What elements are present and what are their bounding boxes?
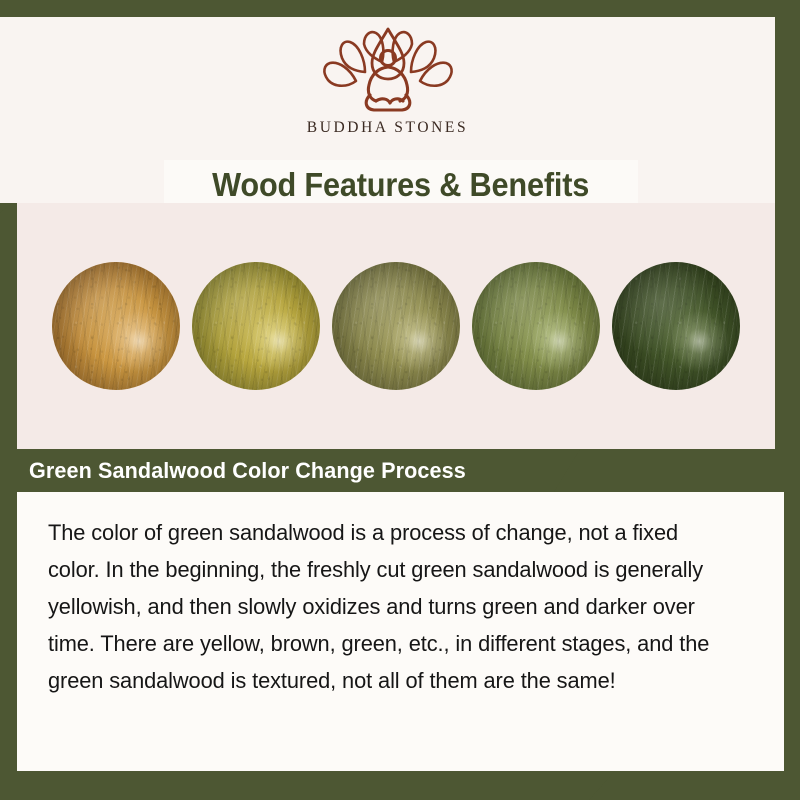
bead-stage-1-yellowish	[52, 262, 180, 390]
description-paragraph: The color of green sandalwood is a proce…	[48, 514, 735, 699]
sphere-shading-highlight	[612, 262, 740, 390]
left-frame-strip	[0, 199, 17, 800]
description-card: The color of green sandalwood is a proce…	[17, 492, 784, 771]
bead-stage-2-yellow-green	[192, 262, 320, 390]
sphere-shading-highlight	[192, 262, 320, 390]
page-title: Wood Features & Benefits	[213, 166, 590, 204]
bead-stage-3-olive	[332, 262, 460, 390]
header-card: BUDDHA STONES Wood Features & Benefits	[0, 17, 775, 203]
page-title-plate: Wood Features & Benefits	[164, 160, 638, 209]
lotus-meditation-figure-icon	[308, 25, 468, 115]
section-banner: Green Sandalwood Color Change Process	[0, 449, 580, 492]
brand-wordmark: BUDDHA STONES	[0, 119, 775, 137]
bead-row	[17, 203, 775, 449]
top-frame-bar	[0, 0, 800, 17]
bottom-frame-bar	[0, 771, 615, 800]
sphere-shading-highlight	[332, 262, 460, 390]
sphere-shading-highlight	[52, 262, 180, 390]
bead-stage-5-dark-green	[612, 262, 740, 390]
bead-stage-4-green	[472, 262, 600, 390]
section-banner-title: Green Sandalwood Color Change Process	[29, 458, 466, 484]
bead-showcase-band	[17, 203, 775, 449]
poster-canvas: BUDDHA STONES Wood Features & Benefits G…	[0, 0, 800, 800]
brand-logo: BUDDHA STONES	[0, 25, 775, 137]
sphere-shading-highlight	[472, 262, 600, 390]
